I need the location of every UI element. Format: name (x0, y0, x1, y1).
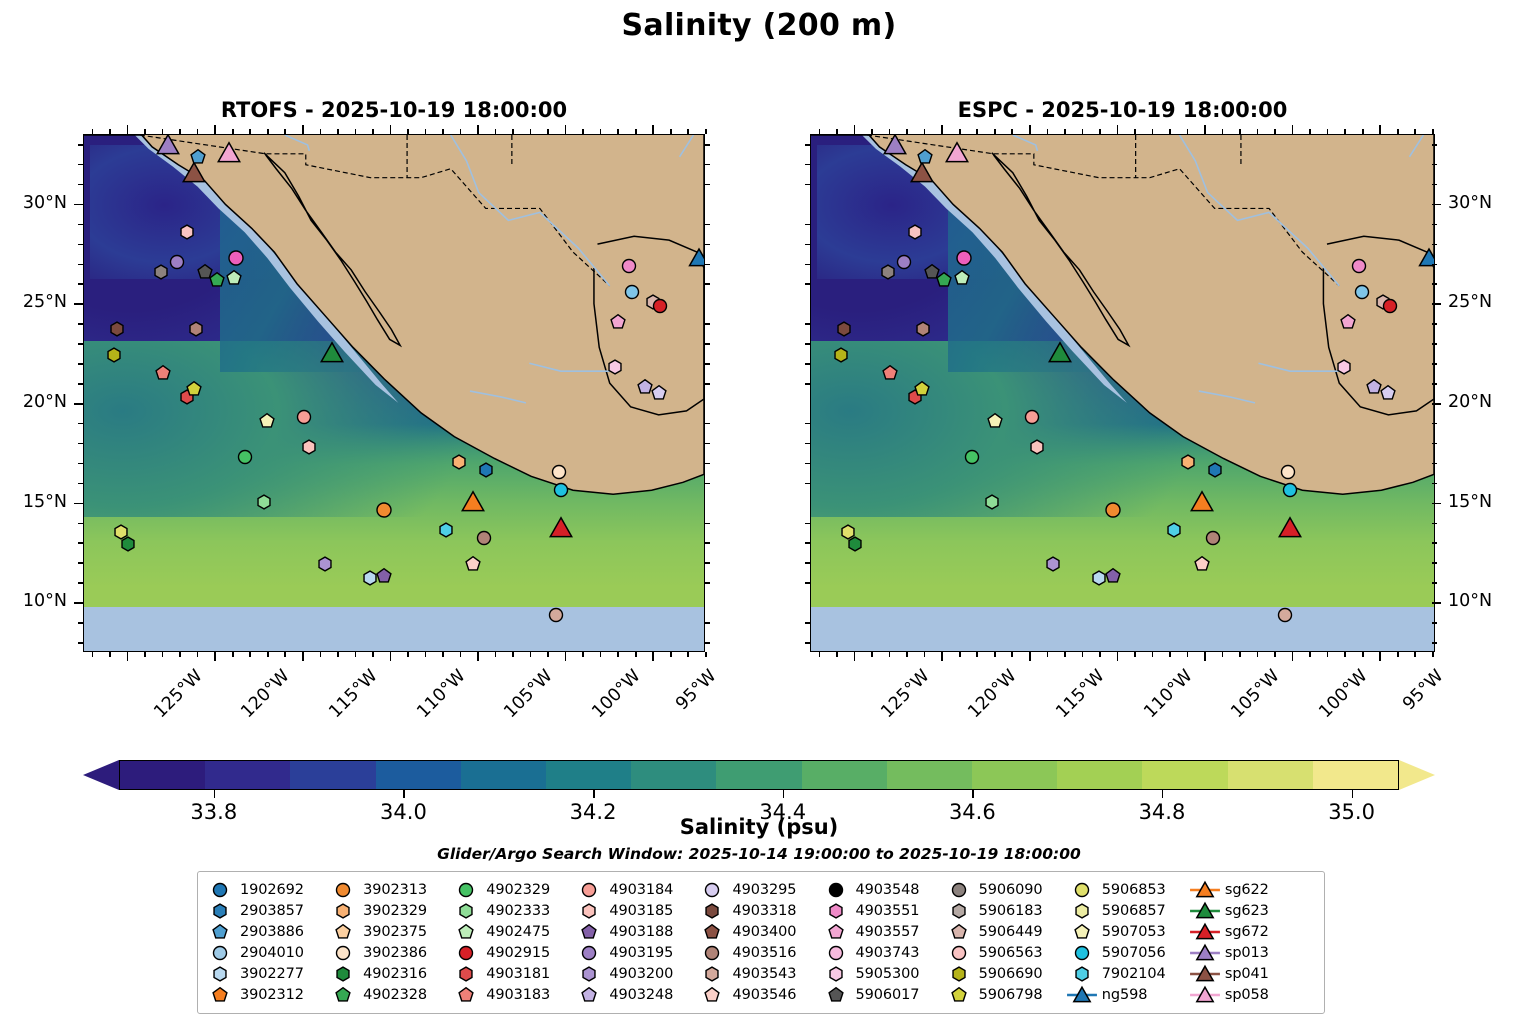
legend-marker-hexagon-icon (1069, 964, 1095, 983)
legend-marker-circle-icon (330, 943, 356, 962)
xtick-minor-top (1099, 129, 1101, 134)
map-marker-sg672[interactable] (1279, 517, 1301, 539)
legend-item-ng598[interactable]: ng598 (1069, 984, 1192, 1005)
legend-label: ng598 (1102, 987, 1148, 1003)
legend-item-4903551[interactable]: 4903551 (823, 900, 946, 921)
ytick-minor (78, 423, 83, 425)
map-marker-4903516[interactable] (475, 529, 493, 547)
map-marker-sp041b[interactable] (187, 320, 205, 338)
xtick-minor (1047, 652, 1049, 657)
map-marker-sg623[interactable] (321, 342, 343, 364)
map-marker-5906690[interactable] (832, 346, 850, 364)
ytick-30°N (1432, 204, 1441, 206)
ytick-minor (78, 542, 83, 544)
legend-item-4903546[interactable]: 4903546 (699, 984, 822, 1005)
map-marker-sg623[interactable] (1049, 342, 1071, 364)
legend-item-4903400[interactable]: 4903400 (699, 921, 822, 942)
colorbar-segment-12 (1142, 761, 1227, 789)
legend-item-3902312[interactable]: 3902312 (207, 984, 330, 1005)
ytick-minor (805, 184, 810, 186)
colorbar-segment-8 (802, 761, 887, 789)
map-marker-2903886[interactable] (189, 148, 207, 166)
legend-item-1902692[interactable]: 1902692 (207, 879, 330, 900)
ytick-minor (705, 224, 710, 226)
xtick-minor (871, 652, 873, 657)
map-marker-4903184[interactable] (295, 408, 313, 426)
map-marker-4903195[interactable] (168, 253, 186, 271)
map-marker-3902386[interactable] (1279, 463, 1297, 481)
legend-item-5906090[interactable]: 5906090 (946, 879, 1069, 900)
map-marker-4902328[interactable] (208, 271, 226, 289)
ytick-minor (78, 383, 83, 385)
colorbar-segment-1 (205, 761, 290, 789)
legend-marker-pentagon-icon (576, 922, 602, 941)
legend-label: 4903195 (609, 945, 673, 961)
xtick-minor-top (460, 129, 462, 134)
map-marker-4903557[interactable] (1339, 313, 1357, 331)
map-marker-5907056[interactable] (552, 481, 570, 499)
map-marker-5906853[interactable] (112, 523, 130, 541)
legend-label: 4903400 (732, 924, 796, 940)
colorbar-tick-34.4 (783, 790, 785, 798)
map-marker-4903548[interactable] (954, 249, 973, 268)
legend-marker-triangle-line-icon (1192, 964, 1218, 983)
xtick-minor-top (670, 129, 672, 134)
ytick-minor (805, 264, 810, 266)
map-marker-4903185[interactable] (300, 438, 318, 456)
map-marker-5906563[interactable] (178, 223, 196, 241)
ytick-minor (805, 523, 810, 525)
xtick-minor (267, 652, 269, 657)
map-axes-rtofs[interactable] (83, 134, 705, 652)
legend-marker-hexagon-icon (330, 964, 356, 983)
xtick-minor-top (959, 129, 961, 134)
legend-item-sp041[interactable]: sp041 (1192, 963, 1315, 984)
xtick-minor (1344, 652, 1346, 657)
legend-item-4903318[interactable]: 4903318 (699, 900, 822, 921)
map-marker-5905300[interactable] (606, 358, 624, 376)
map-marker-sp013[interactable] (884, 134, 906, 156)
xtick-top (477, 125, 479, 134)
map-marker-sg622[interactable] (462, 491, 484, 513)
yticklabel-15°N: 15°N (1448, 492, 1492, 512)
xtick-minor-top (1327, 129, 1329, 134)
legend-item-3902329[interactable]: 3902329 (330, 900, 453, 921)
xtick-minor-top (179, 129, 181, 134)
ytick-30°N (74, 204, 83, 206)
legend-item-3902375[interactable]: 3902375 (330, 921, 453, 942)
legend-item-4902328[interactable]: 4902328 (330, 984, 453, 1005)
legend-item-4903557[interactable]: 4903557 (823, 921, 946, 942)
map-marker-4903195[interactable] (895, 253, 913, 271)
legend-label: 3902375 (363, 924, 427, 940)
xtick-95°W (652, 652, 654, 661)
xtick-top (1292, 125, 1294, 134)
colorbar-extend-low (83, 760, 119, 790)
xticklabel-100°W: 100°W (1315, 666, 1371, 722)
xtick-minor (705, 652, 707, 657)
xtick-minor (232, 652, 234, 657)
ytick-minor (1432, 483, 1437, 485)
xticklabel-120°W: 120°W (238, 666, 294, 722)
yticklabel-15°N: 15°N (23, 492, 67, 512)
ytick-minor (78, 463, 83, 465)
legend-label: 4903318 (732, 903, 796, 919)
legend-marker-triangle-line-icon (1192, 922, 1218, 941)
xtick-minor-top (1432, 129, 1434, 134)
map-marker-sp041b[interactable] (914, 320, 932, 338)
xtick-120°W (941, 652, 943, 661)
map-marker-4903546[interactable] (1193, 555, 1211, 573)
panel-title-rtofs: RTOFS - 2025-10-19 18:00:00 (83, 98, 705, 122)
map-marker-5906690[interactable] (105, 346, 123, 364)
legend-item-4903188[interactable]: 4903188 (576, 921, 699, 942)
map-marker-ng598[interactable] (689, 248, 705, 268)
map-marker-4902329[interactable] (236, 448, 254, 466)
yticklabel-10°N: 10°N (1448, 591, 1492, 611)
legend-item-sp013[interactable]: sp013 (1192, 942, 1315, 963)
xtick-minor-top (495, 129, 497, 134)
xtick-minor (1309, 652, 1311, 657)
map-axes-espc[interactable] (810, 134, 1435, 652)
map-marker-4903548[interactable] (226, 249, 245, 268)
map-marker-4903200[interactable] (316, 555, 334, 573)
ytick-minor (705, 244, 710, 246)
legend-marker-pentagon-icon (1069, 922, 1095, 941)
ytick-minor (705, 423, 710, 425)
map-marker-5905300[interactable] (1335, 358, 1353, 376)
xtick-minor (1414, 652, 1416, 657)
legend-label: 4903181 (486, 966, 550, 982)
legend-label: 4903551 (856, 903, 920, 919)
legend-item-sg672[interactable]: sg672 (1192, 921, 1315, 942)
xtick-minor-top (1257, 129, 1259, 134)
map-marker-5906853[interactable] (839, 523, 857, 541)
map-marker-4903183[interactable] (881, 364, 899, 382)
map-marker-3902329[interactable] (1179, 453, 1197, 471)
ytick-minor (78, 323, 83, 325)
xticklabel-120°W: 120°W (965, 666, 1021, 722)
legend-item-3902386[interactable]: 3902386 (330, 942, 453, 963)
xticklabel-105°W: 105°W (1228, 666, 1284, 722)
ytick-minor (1432, 423, 1437, 425)
legend-label: 4903184 (609, 882, 673, 898)
ytick-minor (78, 184, 83, 186)
legend-label: 2904010 (240, 945, 304, 961)
xtick-minor-top (1082, 129, 1084, 134)
ytick-minor (705, 264, 710, 266)
legend-item-4903295[interactable]: 4903295 (699, 879, 822, 900)
map-marker-4903188[interactable] (375, 567, 393, 585)
search-window-note: Glider/Argo Search Window: 2025-10-14 19… (0, 845, 1518, 863)
map-marker-4903295[interactable] (650, 384, 668, 402)
map-marker-5907053[interactable] (258, 412, 276, 430)
legend-item-5906449[interactable]: 5906449 (946, 921, 1069, 942)
map-marker-7902104[interactable] (1165, 521, 1183, 539)
coastline-baja (992, 153, 1129, 346)
xticklabel-95°W: 95°W (1400, 666, 1448, 714)
xtick-minor-top (1222, 129, 1224, 134)
map-marker-4902915[interactable] (1381, 297, 1399, 315)
legend-item-5906183[interactable]: 5906183 (946, 900, 1069, 921)
ytick-minor (805, 642, 810, 644)
legend-item-4903184[interactable]: 4903184 (576, 879, 699, 900)
legend-item-sp058[interactable]: sp058 (1192, 984, 1315, 1005)
map-marker-5906798[interactable] (185, 380, 203, 398)
xtick-minor (460, 652, 462, 657)
ytick-minor (1432, 264, 1437, 266)
xtick-minor (1134, 652, 1136, 657)
map-marker-4902475[interactable] (953, 269, 971, 287)
colorbar-tick-34 (403, 790, 405, 798)
legend-item-5906853[interactable]: 5906853 (1069, 879, 1192, 900)
xtick-minor (337, 652, 339, 657)
map-marker-4902328[interactable] (935, 271, 953, 289)
xtick-minor (617, 652, 619, 657)
legend-label: 4903185 (609, 903, 673, 919)
xtick-minor (1327, 652, 1329, 657)
map-marker-sp058[interactable] (218, 142, 240, 164)
map-marker-4902475[interactable] (225, 269, 243, 287)
xticklabel-115°W: 115°W (1052, 666, 1108, 722)
river-0 (1013, 135, 1038, 151)
legend-item-5906017[interactable]: 5906017 (823, 984, 946, 1005)
map-marker-4903183[interactable] (154, 364, 172, 382)
legend-item-5906563[interactable]: 5906563 (946, 942, 1069, 963)
legend-marker-hexagon-icon (207, 964, 233, 983)
legend-marker-pentagon-icon (330, 985, 356, 1004)
xtick-minor (1152, 652, 1154, 657)
xtick-minor-top (1414, 129, 1416, 134)
ytick-minor (805, 164, 810, 166)
colorbar-segment-11 (1057, 761, 1142, 789)
legend-item-2904010[interactable]: 2904010 (207, 942, 330, 963)
xtick-minor-top (407, 129, 409, 134)
map-marker-1902692[interactable] (1206, 461, 1224, 479)
ytick-minor (805, 423, 810, 425)
map-marker-3902313[interactable] (375, 501, 394, 520)
legend-item-4902333[interactable]: 4902333 (453, 900, 576, 921)
xtick-minor-top (284, 129, 286, 134)
legend-marker-circle-icon (207, 943, 233, 962)
ytick-minor (705, 463, 710, 465)
map-marker-sp058[interactable] (946, 142, 968, 164)
legend-item-4902329[interactable]: 4902329 (453, 879, 576, 900)
map-marker-5906798[interactable] (913, 380, 931, 398)
legend-marker-circle-icon (1069, 943, 1095, 962)
ytick-minor (805, 224, 810, 226)
map-marker-4902333[interactable] (983, 493, 1001, 511)
ytick-minor (1432, 363, 1437, 365)
legend-label: sg622 (1225, 882, 1269, 898)
ytick-minor (1432, 562, 1437, 564)
legend-marker-hexagon-icon (207, 901, 233, 920)
ytick-minor (805, 343, 810, 345)
legend-marker-pentagon-icon (453, 985, 479, 1004)
xtick-minor (1082, 652, 1084, 657)
legend-label: 5906017 (856, 987, 920, 1003)
map-marker-4903295[interactable] (1379, 384, 1397, 402)
ytick-minor (805, 542, 810, 544)
ytick-minor (78, 224, 83, 226)
map-marker-4903546[interactable] (464, 555, 482, 573)
map-marker-4903743[interactable] (623, 283, 641, 301)
xtick-110°W (390, 652, 392, 661)
xtick-minor (1187, 652, 1189, 657)
map-marker-5907056[interactable] (1281, 481, 1299, 499)
map-marker-4902333[interactable] (255, 493, 273, 511)
xtick-minor (1397, 652, 1399, 657)
map-marker-3902329[interactable] (450, 453, 468, 471)
legend-label: 4902915 (486, 945, 550, 961)
map-marker-3902313[interactable] (1103, 501, 1122, 520)
xtick-minor-top (871, 129, 873, 134)
map-marker-5906090[interactable] (152, 263, 170, 281)
legend-marker-pentagon-icon (946, 922, 972, 941)
ytick-minor (78, 582, 83, 584)
ytick-minor (1432, 224, 1437, 226)
xtick-minor-top (924, 129, 926, 134)
legend-item-5905300[interactable]: 5905300 (823, 963, 946, 984)
legend-marker-pentagon-icon (699, 985, 725, 1004)
legend-item-sg622[interactable]: sg622 (1192, 879, 1315, 900)
map-marker-7902104[interactable] (437, 521, 455, 539)
xtick-minor (495, 652, 497, 657)
xticklabel-100°W: 100°W (588, 666, 644, 722)
legend-item-4903181[interactable]: 4903181 (453, 963, 576, 984)
legend-label: sg623 (1225, 903, 1269, 919)
ytick-minor (705, 523, 710, 525)
map-marker-4903318[interactable] (108, 320, 126, 338)
figure-suptitle: Salinity (200 m) (0, 8, 1518, 43)
map-marker-4903516[interactable] (1204, 529, 1222, 547)
legend-item-2903886[interactable]: 2903886 (207, 921, 330, 942)
map-marker-5906090[interactable] (879, 263, 897, 281)
legend-item-5906857[interactable]: 5906857 (1069, 900, 1192, 921)
legend-item-5907056[interactable]: 5907056 (1069, 942, 1192, 963)
legend-label: sg672 (1225, 924, 1269, 940)
legend-item-4903743[interactable]: 4903743 (823, 942, 946, 963)
xtick-105°W (1204, 652, 1206, 661)
legend-item-4903200[interactable]: 4903200 (576, 963, 699, 984)
legend-label: 5907056 (1102, 945, 1166, 961)
legend-label: 4903248 (609, 987, 673, 1003)
legend-marker-circle-icon (823, 943, 849, 962)
legend-label: 4903200 (609, 966, 673, 982)
map-marker-4903543[interactable] (1276, 606, 1294, 624)
ytick-minor (1432, 244, 1437, 246)
legend-item-7902104[interactable]: 7902104 (1069, 963, 1192, 984)
legend-item-4902475[interactable]: 4902475 (453, 921, 576, 942)
xtick-100°W (1292, 652, 1294, 661)
map-marker-4902329[interactable] (963, 448, 981, 466)
legend-marker-circle-icon (453, 880, 479, 899)
xtick-top (390, 125, 392, 134)
map-marker-4903200[interactable] (1044, 555, 1062, 573)
map-marker-4903743[interactable] (1353, 283, 1371, 301)
legend-item-5906690[interactable]: 5906690 (946, 963, 1069, 984)
map-marker-sp013[interactable] (157, 134, 179, 156)
yticklabel-25°N: 25°N (1448, 292, 1492, 312)
legend-marker-pentagon-icon (823, 985, 849, 1004)
map-marker-sg622[interactable] (1191, 491, 1213, 513)
legend-item-4903183[interactable]: 4903183 (453, 984, 576, 1005)
map-marker-4903551[interactable] (620, 257, 638, 275)
xtick-minor-top (1134, 129, 1136, 134)
ytick-minor (705, 443, 710, 445)
colorbar: 33.834.034.234.434.634.835.0 (83, 760, 1435, 790)
legend-item-3902277[interactable]: 3902277 (207, 963, 330, 984)
legend-item-4903543[interactable]: 4903543 (699, 963, 822, 984)
map-marker-2903886[interactable] (916, 148, 934, 166)
xtick-minor-top (162, 129, 164, 134)
xtick-minor (512, 652, 514, 657)
map-marker-sg672[interactable] (550, 517, 572, 539)
map-vector-overlay (84, 135, 704, 651)
map-marker-4903184[interactable] (1023, 408, 1041, 426)
map-marker-4903551[interactable] (1350, 257, 1368, 275)
legend-item-4902316[interactable]: 4902316 (330, 963, 453, 984)
map-marker-4903557[interactable] (609, 313, 627, 331)
map-marker-5906563[interactable] (906, 223, 924, 241)
ytick-minor (805, 463, 810, 465)
map-marker-4902915[interactable] (651, 297, 669, 315)
map-marker-3902386[interactable] (550, 463, 568, 481)
ytick-minor (705, 642, 710, 644)
ytick-15°N (74, 503, 83, 505)
xtick-minor (1222, 652, 1224, 657)
legend-item-4903516[interactable]: 4903516 (699, 942, 822, 963)
ytick-minor (705, 622, 710, 624)
legend-item-sg623[interactable]: sg623 (1192, 900, 1315, 921)
xtick-minor-top (1309, 129, 1311, 134)
ytick-minor (1432, 642, 1437, 644)
legend-item-4902915[interactable]: 4902915 (453, 942, 576, 963)
xtick-top (854, 125, 856, 134)
map-marker-4903318[interactable] (835, 320, 853, 338)
legend-item-4903195[interactable]: 4903195 (576, 942, 699, 963)
legend-marker-circle-icon (823, 880, 849, 899)
legend-label: 4903543 (732, 966, 796, 982)
ytick-10°N (74, 602, 83, 604)
map-marker-4903185[interactable] (1028, 438, 1046, 456)
legend-item-4903548[interactable]: 4903548 (823, 879, 946, 900)
map-marker-4903188[interactable] (1104, 567, 1122, 585)
legend-item-5906798[interactable]: 5906798 (946, 984, 1069, 1005)
legend-label: 3902313 (363, 882, 427, 898)
xtick-minor (1432, 652, 1434, 657)
colorbar-segment-3 (376, 761, 461, 789)
legend-label: 5907053 (1102, 924, 1166, 940)
map-marker-5907053[interactable] (986, 412, 1004, 430)
ytick-minor (805, 283, 810, 285)
ytick-minor (78, 244, 83, 246)
map-marker-4903543[interactable] (547, 606, 565, 624)
legend-item-2903857[interactable]: 2903857 (207, 900, 330, 921)
legend-item-4903248[interactable]: 4903248 (576, 984, 699, 1005)
legend-item-3902313[interactable]: 3902313 (330, 879, 453, 900)
legend-item-5907053[interactable]: 5907053 (1069, 921, 1192, 942)
ytick-minor (705, 582, 710, 584)
legend-label: sp058 (1225, 987, 1269, 1003)
map-marker-1902692[interactable] (477, 461, 495, 479)
legend-item-4903185[interactable]: 4903185 (576, 900, 699, 921)
xtick-top (652, 125, 654, 134)
xtick-minor (425, 652, 427, 657)
legend-label: 3902329 (363, 903, 427, 919)
legend-marker-hexagon-icon (823, 901, 849, 920)
legend-marker-pentagon-icon (946, 985, 972, 1004)
